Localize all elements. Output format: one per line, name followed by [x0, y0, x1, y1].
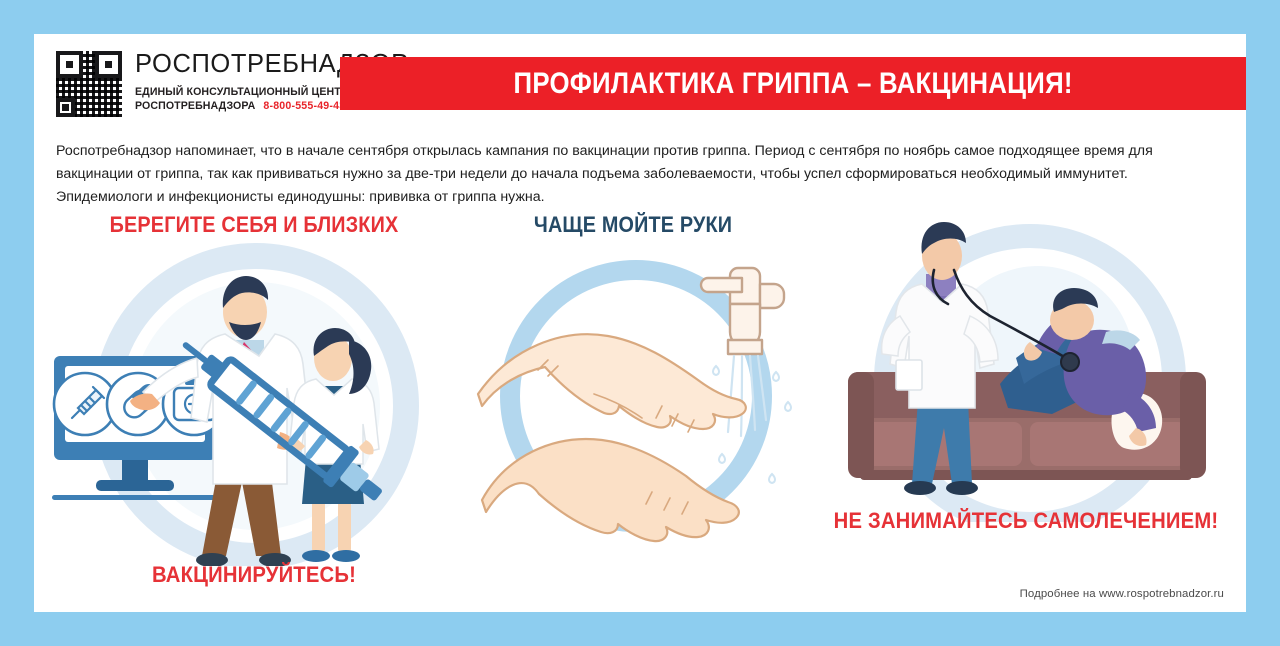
qr-code-icon[interactable] — [56, 51, 122, 117]
intro-paragraph: Роспотребнадзор напоминает, что в начале… — [56, 140, 1224, 209]
panel-no-self-treatment: НЕ ЗАНИМАЙТЕСЬ САМОЛЕЧЕНИЕМ! — [806, 210, 1246, 612]
hands-washing-illustration — [476, 244, 794, 544]
doctor-patient-couch-illustration — [830, 212, 1222, 522]
stethoscope-chestpiece — [1061, 353, 1079, 371]
title-banner: ПРОФИЛАКТИКА ГРИППА – ВАКЦИНАЦИЯ! — [340, 57, 1246, 110]
coat-pocket — [896, 360, 922, 390]
brand-subtitle-line1: ЕДИНЫЙ КОНСУЛЬТАЦИОННЫЙ ЦЕНТР — [135, 86, 348, 98]
banner-title: ПРОФИЛАКТИКА ГРИППА – ВАКЦИНАЦИЯ! — [513, 67, 1072, 101]
panel-vaccinate: БЕРЕГИТЕ СЕБЯ И БЛИЗКИХ — [44, 210, 464, 612]
doctor-nurse-syringe-illustration — [44, 236, 464, 566]
panel-wash-hands-heading: ЧАЩЕ МОЙТЕ РУКИ — [485, 212, 782, 238]
footer-note: Подробнее на www.rospotrebnadzor.ru — [1020, 588, 1224, 600]
panel-wash-hands: ЧАЩЕ МОЙТЕ РУКИ — [468, 210, 798, 612]
panel-vaccinate-caption: ВАКЦИНИРУЙТЕСЬ! — [65, 562, 443, 588]
poster-header: РОСПОТРЕБНАДЗОР ЕДИНЫЙ КОНСУЛЬТАЦИОННЫЙ … — [34, 34, 1246, 130]
panels-row: БЕРЕГИТЕ СЕБЯ И БЛИЗКИХ — [34, 210, 1246, 612]
brand-subtitle-line2: РОСПОТРЕБНАДЗОРА — [135, 100, 255, 112]
panel-vaccinate-heading: БЕРЕГИТЕ СЕБЯ И БЛИЗКИХ — [65, 212, 443, 238]
faucet-icon — [701, 268, 784, 354]
hotline-phone[interactable]: 8-800-555-49-43 — [263, 100, 345, 112]
poster-card: РОСПОТРЕБНАДЗОР ЕДИНЫЙ КОНСУЛЬТАЦИОННЫЙ … — [34, 34, 1246, 612]
panel-no-self-treatment-caption: НЕ ЗАНИМАЙТЕСЬ САМОЛЕЧЕНИЕМ! — [828, 508, 1224, 534]
poster-frame: РОСПОТРЕБНАДЗОР ЕДИНЫЙ КОНСУЛЬТАЦИОННЫЙ … — [0, 0, 1280, 646]
qr-corner-icon — [56, 98, 75, 117]
